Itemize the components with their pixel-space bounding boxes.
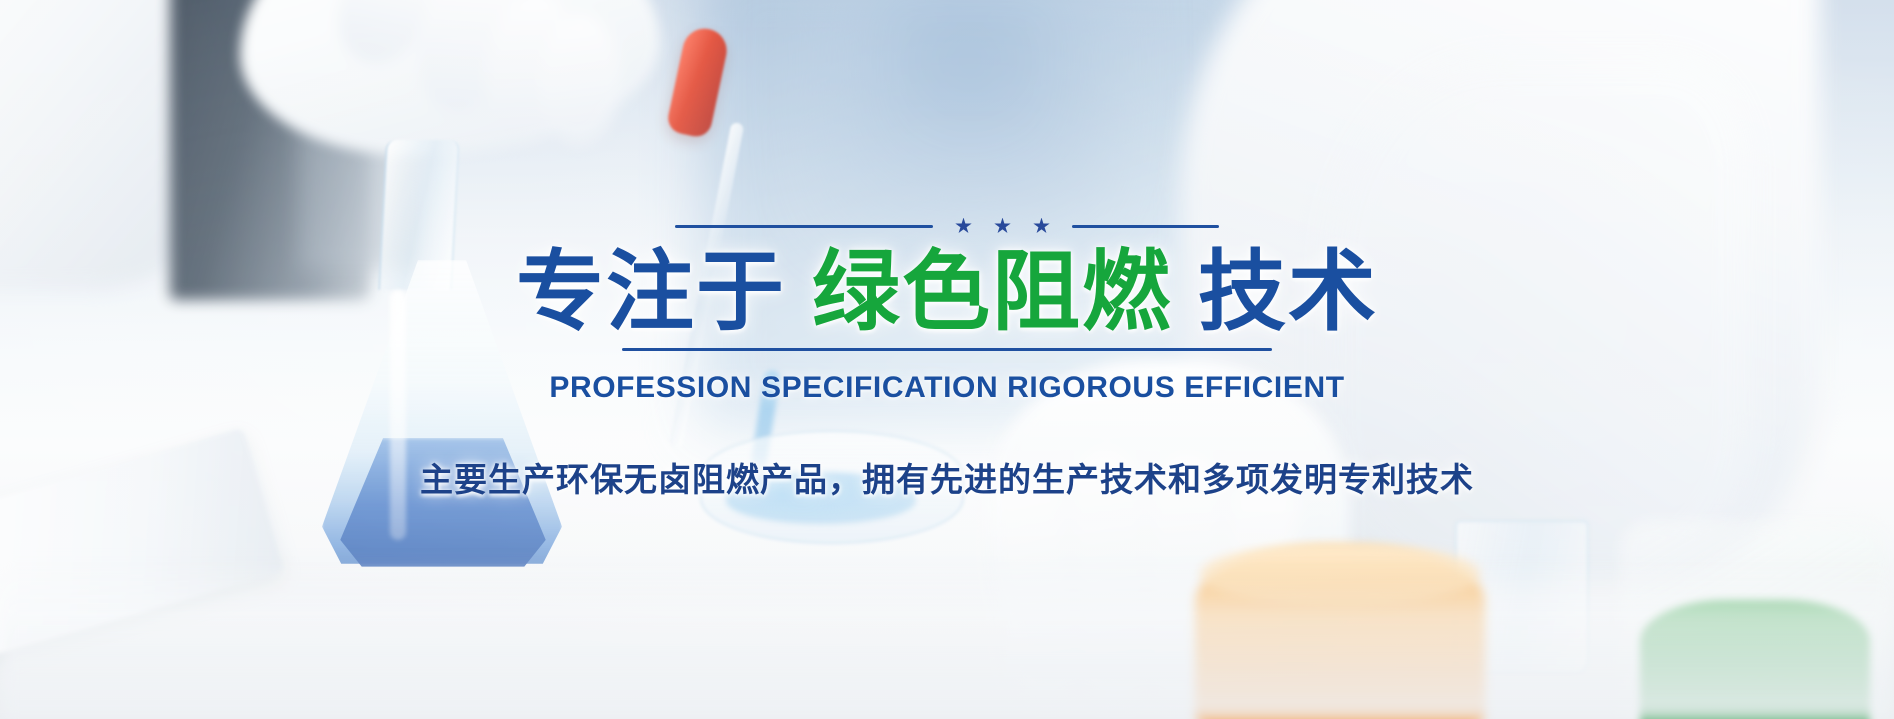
star-icon: [994, 218, 1011, 235]
star-group: [933, 218, 1072, 235]
tagline-chinese: 主要生产环保无卤阻燃产品，拥有先进的生产技术和多项发明专利技术: [420, 453, 1474, 501]
star-icon: [955, 218, 972, 235]
banner-content: 专注于绿色阻燃技术 PROFESSION SPECIFICATION RIGOR…: [0, 0, 1894, 719]
headline-underline: [622, 348, 1272, 351]
headline-part-1: 专注于: [516, 242, 786, 341]
subtitle-english: PROFESSION SPECIFICATION RIGOROUS EFFICI…: [549, 371, 1344, 405]
headline-part-2: 绿色阻燃: [812, 242, 1172, 341]
headline: 专注于绿色阻燃技术: [516, 246, 1378, 338]
star-icon: [1033, 218, 1050, 235]
divider-line-left: [675, 225, 933, 228]
star-divider: [675, 216, 1219, 236]
divider-line-right: [1072, 225, 1219, 228]
hero-banner: 专注于绿色阻燃技术 PROFESSION SPECIFICATION RIGOR…: [0, 0, 1894, 719]
headline-part-3: 技术: [1198, 242, 1378, 341]
